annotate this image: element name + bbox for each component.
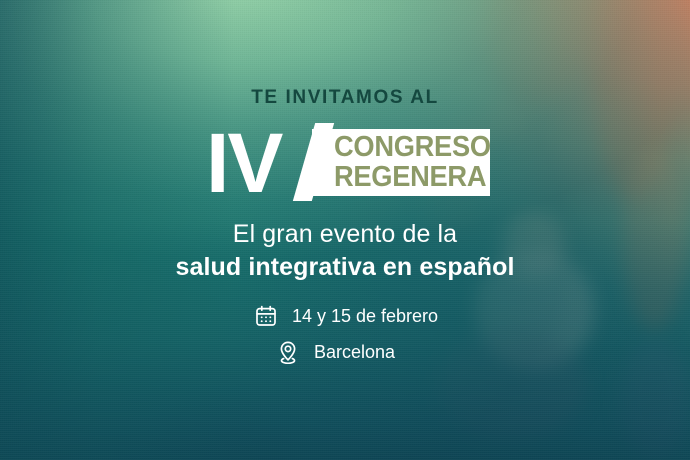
congress-logo-lockup: IV CONGRESO REGENERA (200, 127, 490, 199)
tagline: El gran evento de la salud integrativa e… (175, 219, 514, 282)
logo-name-box: CONGRESO REGENERA (312, 129, 490, 196)
logo-name-line-2: REGENERA (334, 163, 481, 193)
event-location-row: Barcelona (252, 340, 438, 364)
event-details: 14 y 15 de febrero Barcelona (252, 304, 438, 364)
calendar-icon (254, 304, 278, 328)
logo-roman-numeral: IV (206, 121, 281, 205)
event-date-text: 14 y 15 de febrero (292, 307, 438, 325)
event-date-row: 14 y 15 de febrero (252, 304, 438, 328)
event-promo-poster: TE INVITAMOS AL IV CONGRESO REGENERA El … (0, 0, 690, 460)
poster-content: TE INVITAMOS AL IV CONGRESO REGENERA El … (0, 0, 690, 460)
kicker-text: TE INVITAMOS AL (251, 88, 439, 107)
logo-name-line-1: CONGRESO (334, 133, 481, 163)
location-pin-icon (276, 340, 300, 364)
event-location-text: Barcelona (314, 343, 395, 361)
tagline-line-2: salud integrativa en español (175, 252, 514, 283)
tagline-line-1: El gran evento de la (175, 219, 514, 250)
